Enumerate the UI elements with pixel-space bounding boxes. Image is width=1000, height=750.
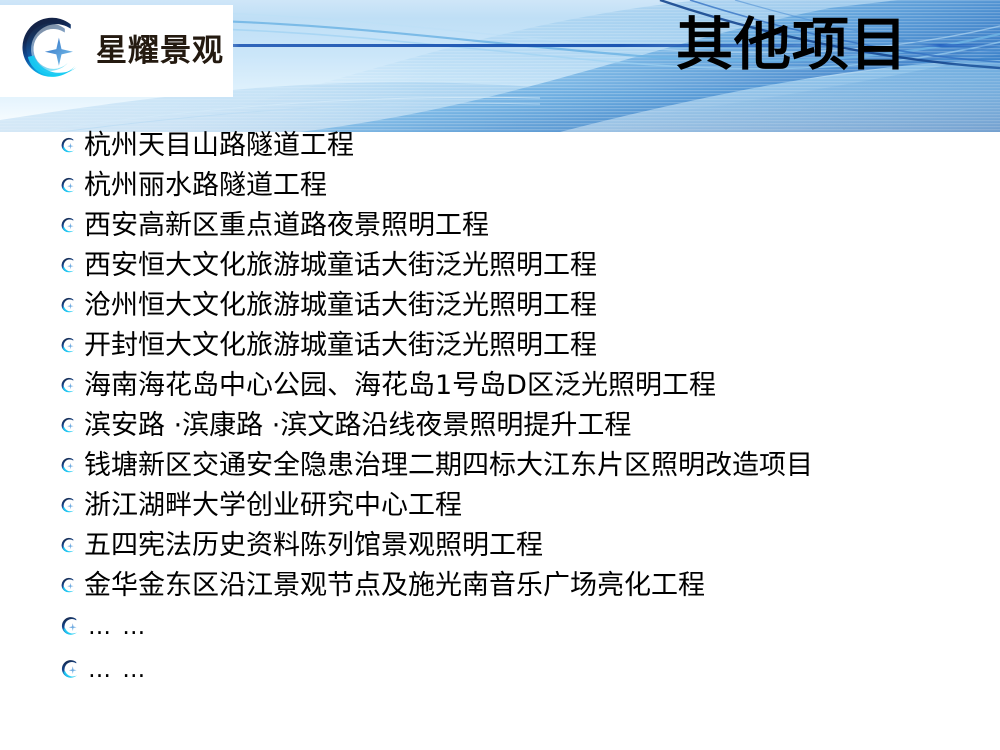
- crescent-star-bullet-icon: [60, 137, 78, 155]
- crescent-star-logo-icon: [16, 14, 90, 88]
- brand-name: 星耀景观: [96, 36, 224, 67]
- list-item-label: 滨安路 ·滨康路 ·滨文路沿线夜景照明提升工程: [84, 406, 631, 446]
- list-item: 沧州恒大文化旅游城童话大街泛光照明工程: [60, 286, 980, 326]
- list-item: 海南海花岛中心公园、海花岛1号岛D区泛光照明工程: [60, 366, 980, 406]
- list-item: 杭州天目山路隧道工程: [60, 126, 980, 166]
- slide-title: 其他项目: [676, 16, 908, 76]
- crescent-star-bullet-icon: [60, 577, 78, 595]
- list-item-label: 五四宪法历史资料陈列馆景观照明工程: [84, 526, 543, 566]
- list-item: 滨安路 ·滨康路 ·滨文路沿线夜景照明提升工程: [60, 406, 980, 446]
- list-item-label: 杭州丽水路隧道工程: [84, 166, 327, 206]
- crescent-star-bullet-icon: [60, 297, 78, 315]
- list-item-label: 金华金东区沿江景观节点及施光南音乐广场亮化工程: [84, 566, 705, 606]
- list-item-label: 开封恒大文化旅游城童话大街泛光照明工程: [84, 326, 597, 366]
- list-item-label: 西安高新区重点道路夜景照明工程: [84, 206, 489, 246]
- list-item: 杭州丽水路隧道工程: [60, 166, 980, 206]
- list-item-label: 沧州恒大文化旅游城童话大街泛光照明工程: [84, 286, 597, 326]
- list-item-label: 浙江湖畔大学创业研究中心工程: [84, 486, 462, 526]
- list-item: 西安恒大文化旅游城童话大街泛光照明工程: [60, 246, 980, 286]
- list-item-label: 海南海花岛中心公园、海花岛1号岛D区泛光照明工程: [84, 366, 716, 406]
- crescent-star-bullet-icon: [60, 417, 78, 435]
- list-item: 五四宪法历史资料陈列馆景观照明工程: [60, 526, 980, 566]
- list-item-label: 西安恒大文化旅游城童话大街泛光照明工程: [84, 246, 597, 286]
- list-item-label: … …: [88, 606, 147, 649]
- list-item: 开封恒大文化旅游城童话大街泛光照明工程: [60, 326, 980, 366]
- list-item: 金华金东区沿江景观节点及施光南音乐广场亮化工程: [60, 566, 980, 606]
- list-item-label: 钱塘新区交通安全隐患治理二期四标大江东片区照明改造项目: [84, 446, 813, 486]
- list-item-label: … …: [88, 649, 147, 692]
- crescent-star-bullet-icon: [60, 457, 78, 475]
- brand-logo: 星耀景观: [0, 5, 233, 97]
- list-item: … …: [60, 649, 980, 692]
- crescent-star-bullet-icon: [60, 337, 78, 355]
- crescent-star-bullet-icon: [60, 616, 82, 638]
- list-item: 西安高新区重点道路夜景照明工程: [60, 206, 980, 246]
- crescent-star-bullet-icon: [60, 257, 78, 275]
- crescent-star-bullet-icon: [60, 177, 78, 195]
- list-item: 钱塘新区交通安全隐患治理二期四标大江东片区照明改造项目: [60, 446, 980, 486]
- crescent-star-bullet-icon: [60, 217, 78, 235]
- crescent-star-bullet-icon: [60, 659, 82, 681]
- crescent-star-bullet-icon: [60, 537, 78, 555]
- crescent-star-bullet-icon: [60, 377, 78, 395]
- list-item: 浙江湖畔大学创业研究中心工程: [60, 486, 980, 526]
- list-item-label: 杭州天目山路隧道工程: [84, 126, 354, 166]
- crescent-star-bullet-icon: [60, 497, 78, 515]
- presentation-slide: 星耀景观 其他项目 杭州天目山路隧道工程杭州丽水路隧道工程西安高新区重点道路夜景…: [0, 0, 1000, 750]
- project-list: 杭州天目山路隧道工程杭州丽水路隧道工程西安高新区重点道路夜景照明工程西安恒大文化…: [60, 126, 980, 692]
- list-item: … …: [60, 606, 980, 649]
